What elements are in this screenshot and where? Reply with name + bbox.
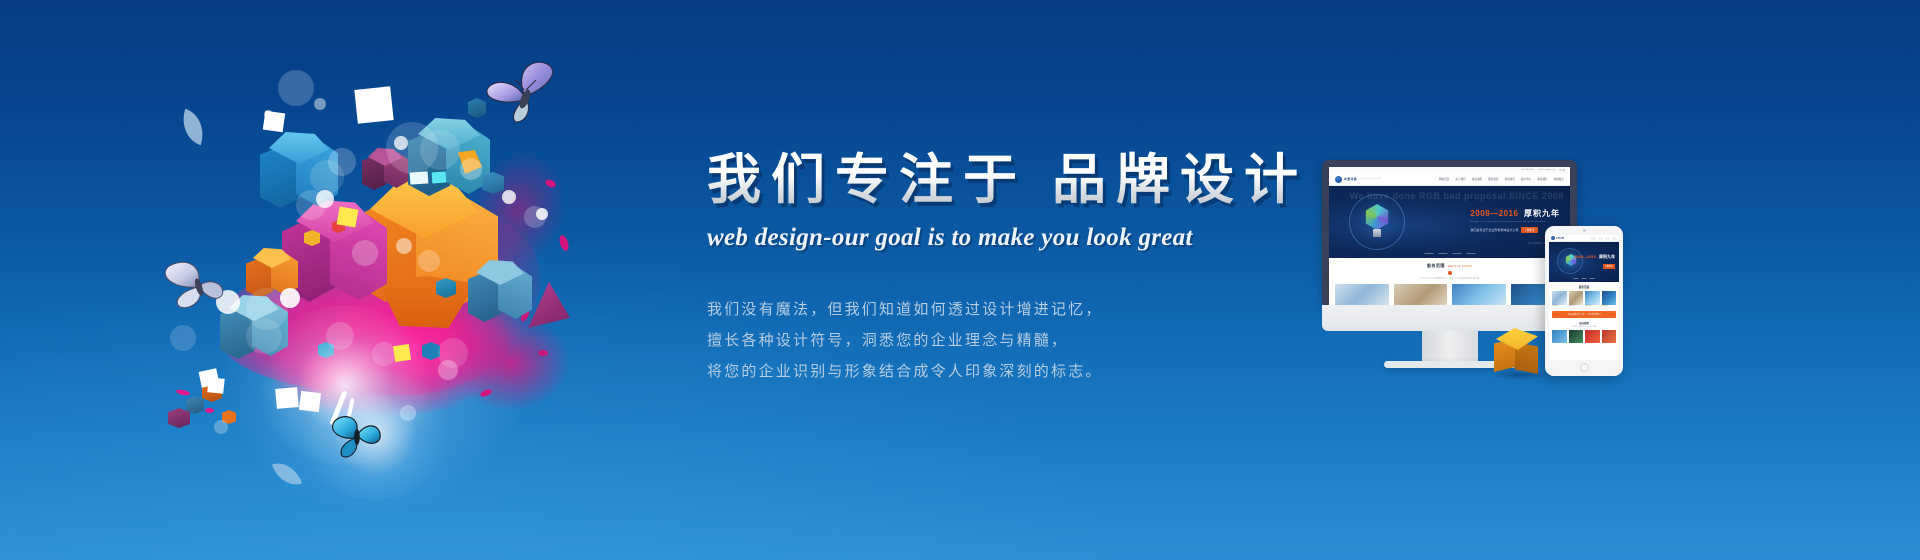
white-square [432,172,447,184]
bokeh-circle [214,420,228,434]
hero-copy: 我们专注于 品牌设计 web design-our goal is to mak… [707,150,1347,387]
mobile-card[interactable]: 网站建设 [1585,291,1600,308]
mobile-case-row [1552,330,1616,343]
mobile-cta-banner[interactable]: 专注品牌设计九年 · 立即咨询我们 [1552,311,1616,318]
logo-mark-icon [1551,236,1555,240]
tiny-cube [436,278,456,298]
mobile-card-caption: 品牌策划 [1602,306,1617,308]
site-navbar: 众里寻他 ZHONG LI XUN TA 网站首页 关于我们 成功案例 服务项目… [1329,173,1570,186]
mobile-hero: 2008—2016厚积九年 了解更多 [1549,242,1619,282]
mobile-section2-title: 成功案例 [1552,321,1616,325]
paint-speck [558,234,571,252]
white-square [393,344,411,362]
mobile-menu[interactable] [1591,237,1617,240]
menu-item: 在线留言 [1554,177,1564,181]
white-square [299,391,321,412]
hero-paragraph: 我们没有魔法，但我们知道如何透过设计增进记忆， 擅长各种设计符号，洞悉您的企业理… [707,294,1347,387]
bokeh-circle [394,136,408,150]
menu-item: 成功案例 [1472,177,1482,181]
hero-sub-en: zhonglii is a studio for illustration in… [1470,221,1560,223]
paint-speck [205,408,214,413]
site-logo: 众里寻他 ZHONG LI XUN TA [1335,176,1380,183]
right-blue-cube [468,260,532,330]
bokeh-circle [280,288,300,308]
bokeh-circle [246,318,282,354]
mobile-device-mockup: 众里寻他 2008—2016厚积九年 了解更多 服务范围 平面设计 [1545,226,1623,376]
topbar-phone: 400-800-0000 [1521,169,1533,171]
desktop-monitor-mockup: 400-800-0000 info@example.com 中文版 众里寻他 Z… [1322,160,1577,368]
case-thumb[interactable] [1552,330,1567,343]
mobile-card-caption: 画册设计 [1569,306,1584,308]
case-thumb[interactable] [1569,330,1584,343]
abstract-artwork [150,60,670,490]
case-thumb[interactable] [1585,330,1600,343]
mobile-card[interactable]: 平面设计 [1552,291,1567,308]
page-subtitle: web design-our goal is to make you look … [707,224,1347,252]
logo-subtitle: ZHONG LI XUN TA [1359,178,1381,180]
tiny-cube [186,396,204,414]
logo-title: 众里寻他 [1344,177,1357,181]
section-accent-dot [1448,271,1452,275]
mock-website: 400-800-0000 info@example.com 中文版 众里寻他 Z… [1329,167,1570,305]
section-title-en: SERVICE SCOPE [1447,265,1472,268]
monitor-bezel: 400-800-0000 info@example.com 中文版 众里寻他 Z… [1322,160,1577,305]
mobile-section-title: 服务范围 [1552,285,1616,289]
bokeh-circle [310,160,344,194]
lightbulb-network-icon [1557,248,1583,274]
mobile-card-caption: 网站建设 [1585,306,1600,308]
mobile-card-grid: 平面设计 画册设计 网站建设 品牌策划 [1552,291,1616,308]
service-card[interactable] [1394,284,1448,305]
front-camera-icon [1583,229,1586,232]
mobile-hero-slogan: 厚积九年 [1599,254,1615,259]
white-square [410,171,429,184]
mobile-card-caption: 平面设计 [1552,306,1567,308]
paragraph-line: 我们没有魔法，但我们知道如何透过设计增进记忆， [707,294,1347,325]
hero-years: 2008—2016 [1470,209,1518,218]
paragraph-line: 擅长各种设计符号，洞悉您的企业理念与精髓， [707,325,1347,356]
section-heading: 服务范围 SERVICE SCOPE [1335,263,1564,269]
mobile-body: 服务范围 平面设计 画册设计 网站建设 [1549,282,1619,346]
topbar-email: info@example.com [1538,169,1555,171]
hero-slogan: 厚积九年 [1524,208,1560,219]
service-card-grid [1335,284,1564,305]
logo-mark-icon [1335,176,1342,183]
menu-item: 联系我们 [1537,177,1547,181]
site-body: 服务范围 SERVICE SCOPE 九年专注企业形象整体设计，提供一站式品牌视… [1329,258,1570,305]
device-mockups: 400-800-0000 info@example.com 中文版 众里寻他 Z… [1322,160,1622,390]
home-button[interactable] [1580,363,1589,372]
page-title: 我们专注于 品牌设计 [707,150,1347,210]
tiny-cube [304,230,320,246]
monitor-chin [1322,305,1577,331]
white-square [263,111,285,133]
bokeh-circle [278,70,314,106]
section-subtitle: 九年专注企业形象整体设计，提供一站式品牌视觉解决方案 [1335,277,1564,280]
service-card[interactable] [1452,284,1506,305]
hero-slider-dots[interactable] [1424,253,1475,255]
mobile-hero-cta[interactable]: 了解更多 [1603,264,1615,269]
bokeh-circle [326,322,354,350]
monitor-screen: 400-800-0000 info@example.com 中文版 众里寻他 Z… [1329,167,1570,305]
menu-item: 关于我们 [1455,177,1465,181]
hero-cta-button[interactable]: 了解更多 [1521,227,1537,233]
white-square [337,206,359,227]
bokeh-circle [400,405,416,421]
bokeh-circle [352,240,378,266]
bokeh-circle [502,190,516,204]
pale-crescent [272,457,302,491]
bokeh-circle [420,130,460,170]
mobile-card[interactable]: 画册设计 [1569,291,1584,308]
paint-speck [538,350,548,356]
site-menu: 网站首页 关于我们 成功案例 服务项目 新闻资讯 客户中心 联系我们 在线留言 [1439,177,1564,181]
site-hero-banner: We have done RGB bad proposal SINCE 2008… [1329,186,1570,258]
mobile-hero-years: 2008—2016厚积九年 [1574,254,1615,260]
mobile-screen: 众里寻他 2008—2016厚积九年 了解更多 服务范围 平面设计 [1549,235,1619,360]
paint-speck [176,389,191,397]
mobile-navbar: 众里寻他 [1549,235,1619,242]
bokeh-circle [396,238,412,254]
menu-item: 网站首页 [1439,177,1449,181]
white-square [354,86,393,124]
blue-butterfly [328,412,386,464]
mobile-card[interactable]: 品牌策划 [1602,291,1617,308]
bokeh-circle [316,190,334,208]
menu-item: 新闻资讯 [1505,177,1515,181]
hero-tagline: 我们是专注于企业形象整体设计公司 [1470,228,1518,232]
orange-cube [1494,328,1538,374]
bokeh-circle [418,250,440,272]
lightbulb-network-icon [1349,194,1405,250]
hero-banner: 我们专注于 品牌设计 web design-our goal is to mak… [0,0,1920,560]
menu-item: 服务项目 [1488,177,1498,181]
mobile-section2-sub: 九年积淀 · 服务超过 1000 家企业客户 [1552,326,1616,328]
bokeh-circle [536,208,548,220]
white-butterfly [158,255,230,317]
case-thumb[interactable] [1602,330,1617,343]
purple-butterfly [480,60,558,128]
bokeh-circle [438,360,458,380]
service-card[interactable] [1335,284,1389,305]
tiny-cube [168,408,190,428]
section-title: 服务范围 [1427,263,1445,268]
topbar-lang: 中文版 [1559,169,1565,172]
bokeh-circle [460,158,482,180]
monitor-stand-neck [1422,331,1478,361]
pale-crescent [176,109,210,146]
bokeh-circle [170,325,196,351]
mobile-slider-dots[interactable] [1574,278,1595,279]
tiny-cube [482,172,504,194]
paragraph-line: 将您的企业识别与形象结合成令人印象深刻的标志。 [707,356,1347,387]
menu-item: 客户中心 [1521,177,1531,181]
white-square [275,387,299,409]
logo-title: 众里寻他 [1556,237,1564,240]
bokeh-circle [314,98,326,110]
